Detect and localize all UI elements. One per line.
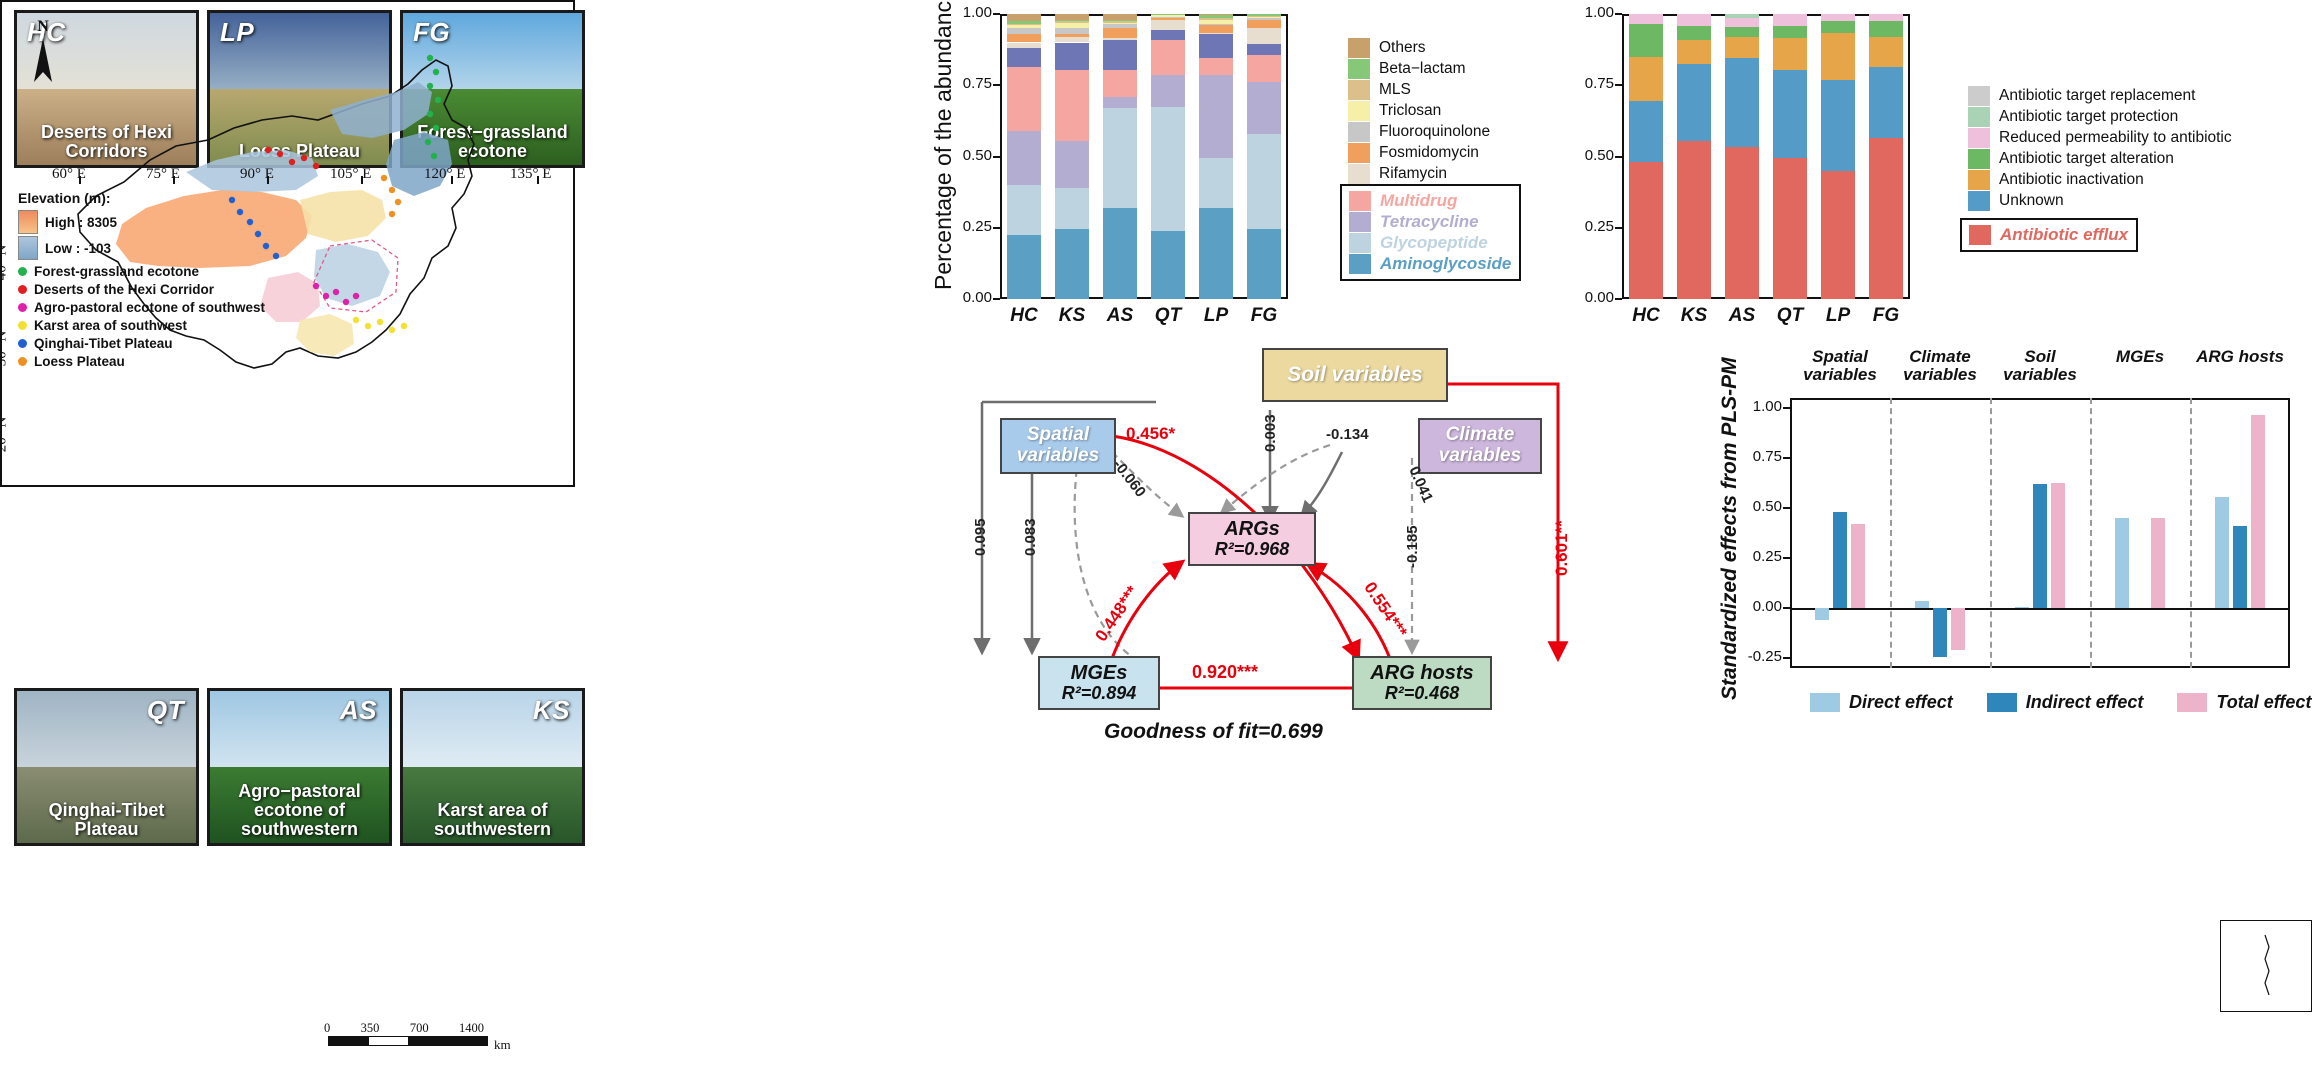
elevation-low-label: Low : -103 (45, 241, 111, 256)
stack-segment (1629, 162, 1664, 299)
stack-segment (1151, 30, 1186, 40)
scale-tick: 700 (410, 1021, 429, 1036)
legend-swatch (1348, 101, 1370, 121)
legend-label: Beta−lactam (1379, 60, 1466, 78)
group-title: MGEs (2090, 348, 2190, 366)
legend-swatch (1968, 86, 1990, 106)
north-arrow: N (28, 18, 58, 88)
legend-swatch (1969, 225, 1991, 245)
pls-node-climate: Climate variables (1418, 418, 1542, 474)
pls-node-soil: Soil variables (1262, 348, 1448, 402)
stack-segment (1007, 185, 1042, 235)
pls-node-label: MGEs (1071, 662, 1128, 684)
legend-label: MLS (1379, 81, 1411, 99)
group-title: Climate variables (1890, 348, 1990, 385)
y-tick-label: 0.75 (942, 75, 992, 92)
stacked-bar (1629, 14, 1664, 299)
stack-segment (1821, 80, 1856, 171)
stack-segment (1773, 70, 1808, 158)
stack-segment (1103, 40, 1138, 70)
legend-item: Beta−lactam (1348, 59, 1490, 79)
legend-label: Antibiotic target protection (1999, 108, 2178, 126)
stack-segment (1055, 43, 1090, 70)
legend-label: Karst area of southwest (34, 318, 187, 333)
zero-line (1790, 608, 2290, 610)
group-divider (2190, 398, 2192, 668)
stack-segment (1103, 28, 1138, 38)
scale-tick: 1400 (459, 1021, 484, 1036)
legend-label: Agro-pastoral ecotone of southwest (34, 300, 265, 315)
legend-item: Forest-grassland ecotone (18, 264, 265, 279)
stack-segment (1199, 158, 1234, 208)
legend-swatch (2177, 693, 2207, 712)
y-tick-label: 0.50 (1564, 147, 1614, 164)
stack-segment (1007, 67, 1042, 131)
stack-segment (1055, 188, 1090, 229)
stack-segment (1677, 40, 1712, 64)
stack-segment (1199, 75, 1234, 158)
chart2-plot (1622, 14, 1910, 299)
elevation-high-swatch (18, 210, 38, 234)
stack-segment (1055, 141, 1090, 188)
scale-tick: 0 (324, 1021, 330, 1036)
legend-item: Qinghai-Tibet Plateau (18, 336, 265, 351)
y-tick-mark (1783, 557, 1790, 559)
pls-node-label: ARGs (1224, 518, 1280, 540)
pls-path-0083: 0.083 (1022, 518, 1039, 556)
goodness-of-fit: Goodness of fit=0.699 (1104, 720, 1323, 744)
legend-label: Forest-grassland ecotone (34, 264, 199, 279)
group-title: Spatial variables (1790, 348, 1890, 385)
stack-segment (1773, 26, 1808, 38)
y-tick-mark (1615, 13, 1622, 15)
photo-qt: QT Qinghai-Tibet Plateau (14, 688, 199, 846)
stack-segment (1007, 34, 1042, 43)
stacked-bar (1151, 14, 1186, 299)
stack-segment (1151, 40, 1186, 76)
pls-node-r2: R²=0.468 (1385, 684, 1460, 704)
legend-item: Others (1348, 38, 1490, 58)
stack-segment (1247, 82, 1282, 133)
legend-label: Antibiotic target alteration (1999, 150, 2174, 168)
legend-item: Triclosan (1348, 101, 1490, 121)
pls-node-spatial: Spatial variables (1000, 418, 1116, 474)
pls-node-arghosts: ARG hosts R²=0.468 (1352, 656, 1492, 710)
chart1-ylabel: Percentage of the abundance (930, 0, 957, 290)
stacked-bar (1821, 14, 1856, 299)
stack-segment (1677, 26, 1712, 40)
legend-item: Agro-pastoral ecotone of southwest (18, 300, 265, 315)
stack-segment (1247, 44, 1282, 55)
lon-tick: 120° E (424, 166, 465, 183)
y-tick-label: 0.25 (1728, 548, 1782, 565)
y-tick-mark (1783, 507, 1790, 509)
map-scale-bar: 0 350 700 1400 km (328, 1021, 488, 1046)
legend-label: Glycopeptide (1380, 233, 1488, 253)
lon-tick: 60° E (52, 166, 86, 183)
pls-node-label: Climate variables (1420, 425, 1540, 467)
legend-item: Glycopeptide (1349, 233, 1511, 253)
legend-item: Multidrug (1349, 191, 1511, 211)
chart1-legend: OthersBeta−lactamMLSTriclosanFluoroquino… (1348, 38, 1490, 206)
lon-tick: 90° E (240, 166, 274, 183)
y-tick-mark (993, 156, 1000, 158)
x-tick-label: FG (1869, 305, 1903, 327)
y-tick-mark (993, 298, 1000, 300)
effect-bar (2251, 415, 2265, 608)
x-tick-label: KS (1677, 305, 1711, 327)
stack-segment (1629, 57, 1664, 101)
photo-code: AS (340, 695, 377, 726)
effect-bar (2151, 518, 2165, 608)
stack-segment (1773, 158, 1808, 299)
stack-segment (1869, 67, 1904, 138)
legend-item: Antibiotic target protection (1968, 107, 2232, 127)
legend-swatch (1348, 80, 1370, 100)
effect-bar (1815, 608, 1829, 620)
stack-segment (1199, 58, 1234, 75)
legend-item: Aminoglycoside (1349, 254, 1511, 274)
legend-swatch (1968, 149, 1990, 169)
stack-segment (1869, 138, 1904, 299)
x-tick-label: QT (1773, 305, 1807, 327)
group-divider (1890, 398, 1892, 668)
y-tick-label: 0.75 (1564, 75, 1614, 92)
stack-segment (1821, 33, 1856, 80)
legend-label: Unknown (1999, 192, 2064, 210)
pls-path-0601: 0.601** (1552, 520, 1572, 576)
legend-swatch (1348, 59, 1370, 79)
legend-label: Reduced permeability to antibiotic (1999, 129, 2232, 147)
legend-item: Direct effect (1810, 692, 1953, 713)
pls-path-m0185: -0.185 (1404, 525, 1421, 568)
stack-segment (1007, 48, 1042, 67)
stacked-bar (1103, 14, 1138, 299)
effect-bar (1933, 608, 1947, 657)
stack-segment (1869, 21, 1904, 37)
stack-segment (1151, 107, 1186, 231)
legend-swatch (1968, 128, 1990, 148)
legend-item: Fluoroquinolone (1348, 122, 1490, 142)
legend-label: Rifamycin (1379, 165, 1447, 183)
legend-item: Karst area of southwest (18, 318, 265, 333)
y-tick-label: 0.75 (1728, 448, 1782, 465)
stack-segment (1007, 131, 1042, 185)
y-tick-label: 1.00 (1728, 398, 1782, 415)
lon-tick: 75° E (146, 166, 180, 183)
stack-segment (1055, 229, 1090, 299)
stack-segment (1629, 14, 1664, 24)
stack-segment (1677, 64, 1712, 141)
scale-unit: km (494, 1037, 511, 1053)
y-tick-label: 0.25 (1564, 218, 1614, 235)
legend-swatch (1348, 143, 1370, 163)
legend-swatch (1810, 693, 1840, 712)
legend-item: Rifamycin (1348, 164, 1490, 184)
map-inset (2220, 920, 2312, 1012)
x-tick-label: LP (1821, 305, 1855, 327)
y-tick-mark (1615, 227, 1622, 229)
y-tick-label: 0.00 (942, 289, 992, 306)
legend-label: Tetracycline (1380, 212, 1479, 232)
chart2-legend: Antibiotic target replacementAntibiotic … (1968, 86, 2232, 212)
stack-segment (1677, 141, 1712, 299)
pls-path-0003: 0.003 (1262, 414, 1279, 452)
map-panel: N Elevation (m): High : 8305 Low : -103 … (0, 0, 575, 487)
y-tick-mark (1783, 407, 1790, 409)
lon-tick-mark (537, 176, 539, 184)
stack-segment (1869, 37, 1904, 67)
legend-dot (18, 285, 27, 294)
y-tick-mark (1783, 657, 1790, 659)
pls-path-0095: 0.095 (972, 518, 989, 556)
legend-swatch (1968, 191, 1990, 211)
stack-segment (1725, 27, 1760, 37)
effect-bar (1915, 601, 1929, 608)
stack-segment (1103, 97, 1138, 108)
lat-tick: 20° N (0, 417, 10, 453)
group-divider (1990, 398, 1992, 668)
legend-item: Antibiotic target alteration (1968, 149, 2232, 169)
stack-segment (1199, 34, 1234, 58)
stack-segment (1725, 147, 1760, 299)
x-tick-label: HC (1007, 305, 1041, 327)
effect-bar (1951, 608, 1965, 650)
legend-swatch (1987, 693, 2017, 712)
legend-item: Antibiotic efflux (1969, 225, 2128, 245)
lon-tick-mark (79, 176, 81, 184)
legend-label: Fluoroquinolone (1379, 123, 1490, 141)
effect-bar (2051, 483, 2065, 608)
y-tick-mark (1615, 84, 1622, 86)
x-tick-label: FG (1247, 305, 1281, 327)
stack-segment (1869, 14, 1904, 21)
legend-dot (18, 357, 27, 366)
pls-path-m0134: -0.134 (1326, 426, 1369, 443)
y-tick-label: 0.00 (1564, 289, 1614, 306)
stacked-bar (1773, 14, 1808, 299)
y-tick-mark (1615, 298, 1622, 300)
stacked-bar (1199, 14, 1234, 299)
legend-label: Antibiotic efflux (2000, 225, 2128, 245)
y-tick-mark (1783, 607, 1790, 609)
stack-segment (1151, 231, 1186, 299)
chart1-legend-boxed: MultidrugTetracyclineGlycopeptideAminogl… (1340, 184, 1521, 281)
effect-bar (2215, 497, 2229, 608)
lon-tick: 135° E (510, 166, 551, 183)
stacked-bar (1055, 14, 1090, 299)
legend-item: Deserts of the Hexi Corridor (18, 282, 265, 297)
legend-swatch (1349, 191, 1371, 211)
y-tick-mark (993, 13, 1000, 15)
legend-item: Unknown (1968, 191, 2232, 211)
effect-bar (1851, 524, 1865, 608)
pls-node-label: Spatial variables (1002, 425, 1114, 467)
pls-path-0456: 0.456* (1126, 424, 1175, 444)
stack-segment (1103, 70, 1138, 97)
y-tick-mark (1615, 156, 1622, 158)
legend-swatch (1348, 122, 1370, 142)
stack-segment (1151, 75, 1186, 106)
lon-tick-mark (451, 176, 453, 184)
stack-segment (1103, 108, 1138, 208)
stack-segment (1821, 171, 1856, 299)
y-tick-label: 0.25 (942, 218, 992, 235)
stack-segment (1247, 55, 1282, 82)
legend-label: Others (1379, 39, 1426, 57)
stack-segment (1151, 20, 1186, 30)
map-site-legend: Forest-grassland ecotone Deserts of the … (18, 264, 265, 372)
x-tick-label: LP (1199, 305, 1233, 327)
legend-item: Reduced permeability to antibiotic (1968, 128, 2232, 148)
effect-bar (2115, 518, 2129, 608)
legend-swatch (1348, 164, 1370, 184)
y-tick-label: -0.25 (1728, 648, 1782, 665)
stack-segment (1677, 14, 1712, 26)
x-tick-label: AS (1725, 305, 1759, 327)
x-tick-label: QT (1151, 305, 1185, 327)
stack-segment (1821, 14, 1856, 21)
legend-item: Tetracycline (1349, 212, 1511, 232)
effect-bar (1833, 512, 1847, 608)
y-tick-mark (993, 84, 1000, 86)
legend-swatch (1349, 254, 1371, 274)
photo-caption: Agro−pastoral ecotone of southwestern (210, 782, 389, 839)
stacked-bar (1247, 14, 1282, 299)
scale-tick: 350 (361, 1021, 380, 1036)
legend-label: Qinghai-Tibet Plateau (34, 336, 173, 351)
legend-label: Antibiotic inactivation (1999, 171, 2144, 189)
photo-caption: Qinghai-Tibet Plateau (17, 801, 196, 839)
legend-label: Aminoglycoside (1380, 254, 1511, 274)
photo-as: AS Agro−pastoral ecotone of southwestern (207, 688, 392, 846)
legend-dot (18, 267, 27, 276)
legend-swatch (1349, 233, 1371, 253)
stacked-bar (1007, 14, 1042, 299)
stack-segment (1007, 235, 1042, 299)
photo-ks: KS Karst area of southwestern (400, 688, 585, 846)
lon-tick-mark (361, 176, 363, 184)
group-divider (2090, 398, 2092, 668)
group-title: ARG hosts (2190, 348, 2290, 366)
stack-segment (1247, 28, 1282, 44)
stack-segment (1629, 101, 1664, 162)
chart1-plot (1000, 14, 1288, 299)
y-tick-label: 1.00 (942, 4, 992, 21)
chart3-legend: Direct effectIndirect effectTotal effect (1810, 692, 2311, 713)
effect-bar (2033, 484, 2047, 608)
legend-label: Fosmidomycin (1379, 144, 1479, 162)
stack-segment (1007, 14, 1042, 21)
legend-swatch (1968, 170, 1990, 190)
elevation-high-label: High : 8305 (45, 215, 117, 230)
stack-segment (1055, 70, 1090, 141)
legend-item: Loess Plateau (18, 354, 265, 369)
legend-item: Indirect effect (1987, 692, 2144, 713)
legend-label: Multidrug (1380, 191, 1457, 211)
lon-tick-mark (173, 176, 175, 184)
legend-label: Total effect (2216, 692, 2311, 713)
legend-label: Antibiotic target replacement (1999, 87, 2195, 105)
y-tick-mark (1783, 457, 1790, 459)
legend-label: Triclosan (1379, 102, 1441, 120)
photo-caption: Karst area of southwestern (403, 801, 582, 839)
legend-swatch (1348, 38, 1370, 58)
legend-dot (18, 303, 27, 312)
stack-segment (1247, 20, 1282, 29)
x-tick-label: HC (1629, 305, 1663, 327)
stack-segment (1773, 14, 1808, 26)
pls-node-label: Soil variables (1287, 363, 1422, 386)
legend-dot (18, 339, 27, 348)
stacked-bar (1677, 14, 1712, 299)
group-title: Soil variables (1990, 348, 2090, 385)
stack-segment (1725, 37, 1760, 58)
stacked-bar (1725, 14, 1760, 299)
legend-label: Indirect effect (2026, 692, 2144, 713)
pls-path-0920: 0.920*** (1192, 662, 1258, 683)
pls-node-args: ARGs R²=0.968 (1188, 512, 1316, 566)
stack-segment (1821, 21, 1856, 32)
stack-segment (1773, 38, 1808, 69)
lon-tick-mark (267, 176, 269, 184)
y-tick-label: 0.50 (1728, 498, 1782, 515)
stack-segment (1247, 134, 1282, 229)
stack-segment (1247, 229, 1282, 299)
lat-tick: 30° N (0, 331, 10, 367)
stack-segment (1199, 25, 1234, 32)
effect-bar (2233, 526, 2247, 608)
pls-node-r2: R²=0.968 (1215, 540, 1290, 560)
legend-swatch (1349, 212, 1371, 232)
legend-item: MLS (1348, 80, 1490, 100)
y-tick-label: 0.00 (1728, 598, 1782, 615)
photo-code: KS (533, 695, 570, 726)
lon-tick: 105° E (330, 166, 371, 183)
effect-bar (2015, 607, 2029, 608)
legend-item: Fosmidomycin (1348, 143, 1490, 163)
y-tick-mark (993, 227, 1000, 229)
pls-node-mges: MGEs R²=0.894 (1038, 656, 1160, 710)
legend-item: Antibiotic target replacement (1968, 86, 2232, 106)
pls-node-r2: R²=0.894 (1062, 684, 1137, 704)
elevation-low-swatch (18, 236, 38, 260)
x-tick-label: KS (1055, 305, 1089, 327)
legend-label: Loess Plateau (34, 354, 125, 369)
stack-segment (1629, 24, 1664, 57)
legend-item: Antibiotic inactivation (1968, 170, 2232, 190)
lat-tick: 40° N (0, 245, 10, 281)
x-tick-label: AS (1103, 305, 1137, 327)
stack-segment (1199, 208, 1234, 299)
legend-label: Deserts of the Hexi Corridor (34, 282, 214, 297)
stacked-bar (1869, 14, 1904, 299)
y-tick-label: 0.50 (942, 147, 992, 164)
elevation-legend: Elevation (m): High : 8305 Low : -103 (18, 190, 117, 260)
stack-segment (1725, 58, 1760, 146)
y-tick-label: 1.00 (1564, 4, 1614, 21)
photo-code: QT (147, 695, 184, 726)
chart2-legend-boxed: Antibiotic efflux (1960, 218, 2138, 252)
stack-segment (1103, 208, 1138, 299)
stack-segment (1725, 18, 1760, 27)
legend-label: Direct effect (1849, 692, 1953, 713)
legend-item: Total effect (2177, 692, 2311, 713)
legend-dot (18, 321, 27, 330)
pls-node-label: ARG hosts (1370, 662, 1473, 684)
legend-swatch (1968, 107, 1990, 127)
north-label: N (28, 18, 58, 36)
